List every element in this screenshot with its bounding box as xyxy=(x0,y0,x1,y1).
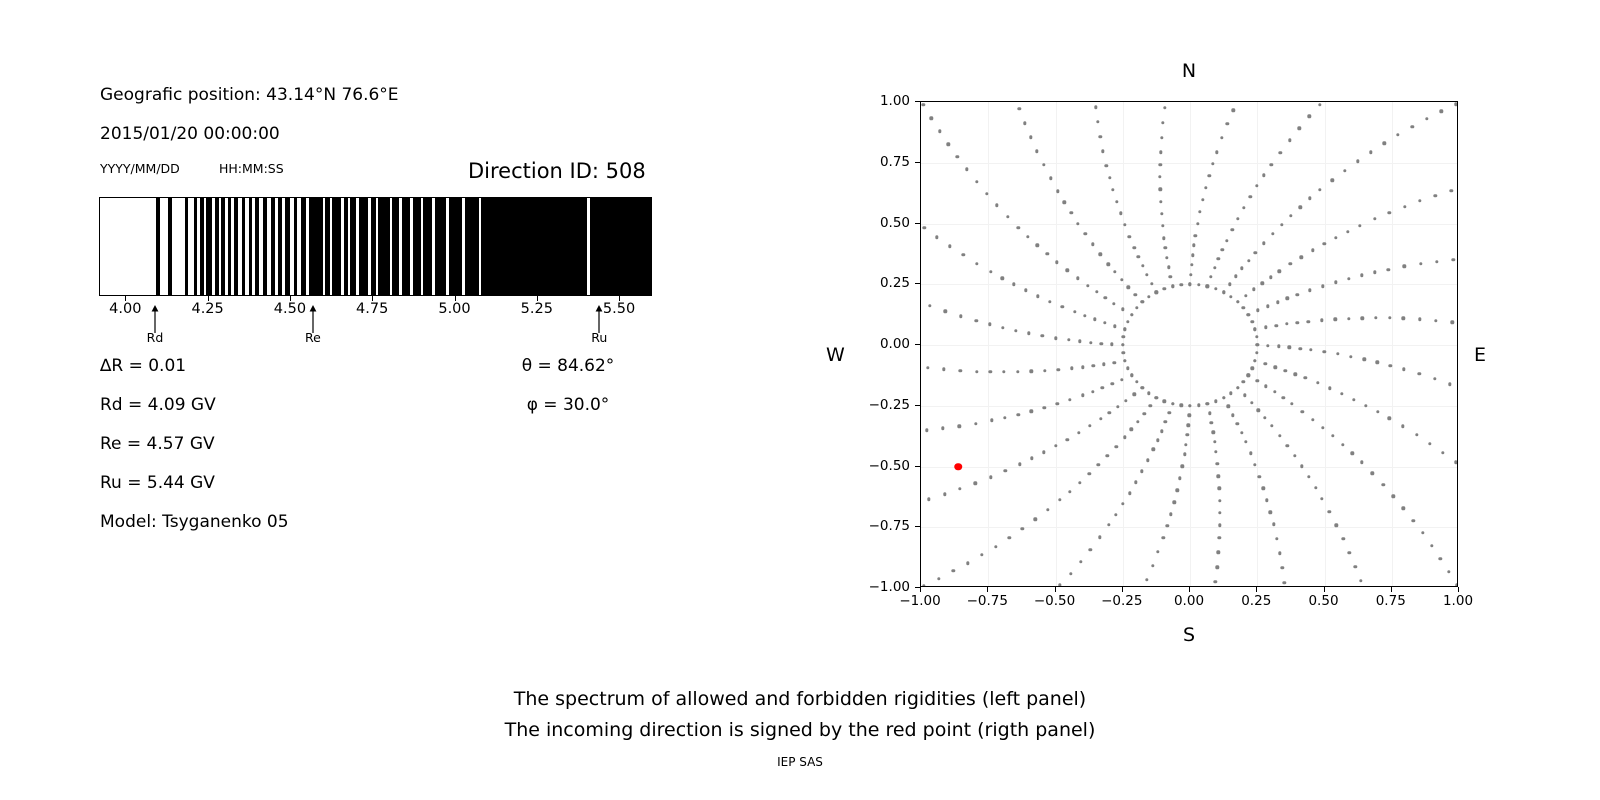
compass-south-label: S xyxy=(1183,624,1195,646)
direction-dot xyxy=(935,235,938,238)
direction-dot xyxy=(1068,490,1071,493)
marker-label-ru: Ru xyxy=(591,330,607,345)
direction-dot xyxy=(1430,544,1433,547)
direction-dot xyxy=(1108,411,1111,414)
direction-dot xyxy=(1383,142,1386,145)
direction-dot xyxy=(1007,536,1010,539)
direction-dot xyxy=(1265,499,1268,502)
direction-dot xyxy=(1249,452,1252,455)
direction-dot xyxy=(1124,399,1127,402)
direction-dot xyxy=(1352,398,1355,401)
direction-dot xyxy=(1318,103,1321,106)
direction-dot xyxy=(1289,262,1292,265)
direction-dot xyxy=(1439,557,1442,560)
direction-dot xyxy=(1036,295,1039,298)
direction-dot xyxy=(1133,246,1136,249)
direction-dot xyxy=(1149,404,1152,407)
x-axis-tick-label: 1.00 xyxy=(1443,593,1473,609)
direction-dot xyxy=(1211,162,1214,165)
direction-dot xyxy=(926,366,929,369)
direction-dot xyxy=(1065,269,1068,272)
direction-dot xyxy=(1054,444,1057,447)
x-axis-tick-label: −0.25 xyxy=(1101,593,1142,609)
direction-dot xyxy=(1229,391,1232,394)
direction-dot xyxy=(925,429,928,432)
gridline-vertical xyxy=(1056,102,1057,586)
direction-dot xyxy=(1240,431,1243,434)
direction-dot xyxy=(1278,434,1281,437)
direction-dot xyxy=(1278,270,1281,273)
compass-west-label: W xyxy=(826,344,845,366)
direction-dot xyxy=(995,203,998,206)
forbidden-band xyxy=(590,198,652,295)
direction-dot xyxy=(1042,163,1045,166)
direction-dot xyxy=(1243,394,1246,397)
direction-dot xyxy=(1147,295,1150,298)
forbidden-band xyxy=(294,198,298,295)
axis-tick-label: 4.50 xyxy=(274,301,306,317)
direction-dot xyxy=(1392,495,1395,498)
axis-tick-label: 5.25 xyxy=(521,301,553,317)
direction-dot xyxy=(1030,370,1033,373)
direction-dot xyxy=(1048,300,1051,303)
direction-dot xyxy=(1216,462,1219,465)
direction-dot xyxy=(1043,406,1046,409)
direction-dot xyxy=(1270,424,1273,427)
direction-dot xyxy=(1311,418,1314,421)
direction-dot xyxy=(1107,263,1110,266)
forbidden-band xyxy=(301,198,306,295)
direction-dot xyxy=(974,422,977,425)
direction-dot xyxy=(1141,264,1144,267)
direction-dot xyxy=(1240,267,1243,270)
direction-dot xyxy=(1434,194,1437,197)
forbidden-band xyxy=(234,198,238,295)
direction-dot xyxy=(1026,235,1029,238)
axis-tick-label: 5.50 xyxy=(603,301,635,317)
direction-dot xyxy=(1454,461,1457,464)
gridline-horizontal xyxy=(921,345,1457,346)
direction-dot xyxy=(1277,345,1280,348)
direction-dot xyxy=(975,180,978,183)
direction-dot xyxy=(1425,117,1428,120)
direction-dot xyxy=(938,130,941,133)
direction-dot xyxy=(1271,232,1274,235)
direction-dot xyxy=(1217,474,1220,477)
figure-caption: The spectrum of allowed and forbidden ri… xyxy=(0,684,1600,746)
asymptotic-direction-panel: −1.00−0.75−0.50−0.250.000.250.500.751.00… xyxy=(820,40,1520,660)
forbidden-band xyxy=(285,198,291,295)
forbidden-band xyxy=(325,198,330,295)
gridline-horizontal xyxy=(921,467,1457,468)
direction-dot xyxy=(1308,197,1311,200)
direction-dot xyxy=(1214,399,1217,402)
direction-dot xyxy=(1171,285,1174,288)
direction-dot xyxy=(1201,198,1204,201)
direction-dot xyxy=(1288,346,1291,349)
direction-dot xyxy=(1373,217,1376,220)
direction-dot xyxy=(1161,121,1164,124)
direction-dot xyxy=(1183,453,1186,456)
direction-dot xyxy=(1218,499,1221,502)
direction-dot xyxy=(1418,318,1421,321)
direction-dot xyxy=(1128,492,1131,495)
direction-dot xyxy=(1091,390,1094,393)
direction-dot xyxy=(1272,522,1275,525)
direction-dot xyxy=(1387,268,1390,271)
direction-dot xyxy=(1186,433,1189,436)
direction-dot xyxy=(1347,317,1350,320)
direction-dot xyxy=(1229,295,1232,298)
direction-dot xyxy=(1411,519,1414,522)
forbidden-band xyxy=(378,198,389,295)
direction-dot xyxy=(1250,401,1253,404)
direction-dot xyxy=(1286,444,1289,447)
x-axis-tick xyxy=(987,587,988,592)
forbidden-band xyxy=(465,198,478,295)
direction-dot xyxy=(1017,226,1020,229)
direction-dot xyxy=(1333,318,1336,321)
direction-dot xyxy=(1001,277,1004,280)
direction-dot xyxy=(1331,434,1334,437)
direction-dot xyxy=(1210,421,1213,424)
direction-dot xyxy=(1133,393,1136,396)
direction-dot xyxy=(1204,186,1207,189)
direction-dot xyxy=(1141,386,1144,389)
direction-dot xyxy=(1293,454,1296,457)
direction-dot xyxy=(959,314,962,317)
direction-dot xyxy=(1340,392,1343,395)
direction-dot xyxy=(1266,304,1269,307)
direction-dot xyxy=(1065,438,1068,441)
forbidden-band xyxy=(249,198,253,295)
direction-dot xyxy=(1021,527,1024,530)
y-axis-tick xyxy=(915,526,920,527)
gridline-horizontal xyxy=(921,527,1457,528)
direction-dot xyxy=(1103,321,1106,324)
direction-dot xyxy=(1388,316,1391,319)
direction-dot xyxy=(1088,424,1091,427)
axis-tick-label: 4.00 xyxy=(109,301,141,317)
direction-dot xyxy=(1105,164,1108,167)
direction-dot xyxy=(1121,502,1124,505)
gridline-horizontal xyxy=(921,224,1457,225)
direction-dot xyxy=(1314,486,1317,489)
direction-dot xyxy=(1225,239,1228,242)
axis-tick xyxy=(455,296,456,301)
direction-dot xyxy=(958,424,961,427)
x-axis-tick xyxy=(1458,587,1459,592)
direction-dot xyxy=(1058,498,1061,501)
x-axis-tick xyxy=(1122,587,1123,592)
direction-dot xyxy=(1042,451,1045,454)
footer-credit: IEP SAS xyxy=(0,755,1600,769)
forbidden-band xyxy=(402,198,411,295)
direction-dot xyxy=(1308,289,1311,292)
direction-dot xyxy=(1078,340,1081,343)
direction-dot xyxy=(1214,287,1217,290)
direction-dot xyxy=(1249,195,1252,198)
direction-dot xyxy=(1217,551,1220,554)
direction-dot xyxy=(1108,176,1111,179)
direction-dot xyxy=(1121,343,1124,346)
direction-dot xyxy=(1402,507,1405,510)
direction-dot xyxy=(1374,316,1377,319)
direction-dot xyxy=(958,487,961,490)
direction-dot xyxy=(1160,429,1163,432)
direction-dot xyxy=(1448,383,1451,386)
direction-dot xyxy=(1122,335,1125,338)
direction-dot xyxy=(1369,150,1372,153)
forbidden-band xyxy=(359,198,368,295)
forbidden-band xyxy=(228,198,231,295)
forbidden-band xyxy=(242,198,246,295)
direction-dot xyxy=(1276,300,1279,303)
direction-dot xyxy=(1086,284,1089,287)
y-axis-tick xyxy=(915,101,920,102)
direction-dot xyxy=(1061,305,1064,308)
direction-dot xyxy=(1435,260,1438,263)
direction-dot xyxy=(1334,236,1337,239)
direction-dot xyxy=(1447,570,1450,573)
direction-dot xyxy=(1163,399,1166,402)
direction-dot xyxy=(1159,188,1162,191)
direction-dot xyxy=(1088,472,1091,475)
x-axis-tick-label: −0.75 xyxy=(967,593,1008,609)
direction-dot xyxy=(1298,127,1301,130)
direction-dot xyxy=(1296,293,1299,296)
direction-dot xyxy=(1121,308,1124,311)
y-axis-tick xyxy=(915,283,920,284)
forbidden-band xyxy=(435,198,446,295)
x-axis-tick-label: −0.50 xyxy=(1034,593,1075,609)
direction-dot xyxy=(1158,163,1161,166)
direction-dot xyxy=(1111,188,1114,191)
direction-dot xyxy=(1359,579,1362,582)
direction-dot xyxy=(1230,228,1233,231)
direction-dot xyxy=(1454,103,1457,106)
direction-dot xyxy=(1094,105,1097,108)
direction-dot xyxy=(1299,205,1302,208)
gridline-horizontal xyxy=(921,163,1457,164)
direction-dot xyxy=(1128,235,1131,238)
direction-dot xyxy=(1114,513,1117,516)
direction-dot xyxy=(1214,450,1217,453)
direction-dot xyxy=(1242,306,1245,309)
direction-dot xyxy=(1299,347,1302,350)
axis-tick xyxy=(125,296,126,301)
direction-dot xyxy=(1196,222,1199,225)
forbidden-band xyxy=(263,198,268,295)
forbidden-band xyxy=(200,198,204,295)
direction-dot xyxy=(1307,320,1310,323)
direction-dot xyxy=(1099,417,1102,420)
direction-dot xyxy=(1256,309,1259,312)
direction-dot xyxy=(1415,433,1418,436)
direction-dot xyxy=(1247,259,1250,262)
direction-dot xyxy=(1360,461,1363,464)
direction-dot xyxy=(922,584,925,587)
direction-dot xyxy=(1165,256,1168,259)
direction-dot xyxy=(1155,396,1158,399)
direction-dot xyxy=(1236,422,1239,425)
direction-dot xyxy=(1244,440,1247,443)
direction-dot xyxy=(1226,122,1229,125)
forbidden-band xyxy=(156,198,160,295)
direction-dot xyxy=(1242,206,1245,209)
forbidden-band xyxy=(221,198,225,295)
x-axis-tick xyxy=(1256,587,1257,592)
x-axis-tick xyxy=(920,587,921,592)
forbidden-band xyxy=(423,198,432,295)
direction-dot xyxy=(956,155,959,158)
direction-dot xyxy=(962,253,965,256)
direction-dot xyxy=(1255,379,1258,382)
direction-dot xyxy=(1401,425,1404,428)
direction-dot xyxy=(1350,452,1353,455)
direction-dot xyxy=(1081,366,1084,369)
direction-dot xyxy=(937,577,940,580)
direction-dot xyxy=(1253,328,1256,331)
direction-dot xyxy=(1068,398,1071,401)
direction-dot xyxy=(1253,359,1256,362)
direction-dot xyxy=(1030,410,1033,413)
direction-dot xyxy=(1286,297,1289,300)
direction-dot xyxy=(1016,413,1019,416)
direction-dot xyxy=(1159,151,1162,154)
direction-dot xyxy=(1190,263,1193,266)
compass-east-label: E xyxy=(1474,344,1486,366)
direction-dot xyxy=(1449,189,1452,192)
direction-dot xyxy=(1126,367,1129,370)
direction-dot xyxy=(1218,536,1221,539)
direction-dot xyxy=(1323,242,1326,245)
direction-dot xyxy=(1247,313,1250,316)
direction-dot xyxy=(1067,338,1070,341)
direction-dot xyxy=(1113,324,1116,327)
direction-dot xyxy=(1320,319,1323,322)
direction-dot xyxy=(1264,385,1267,388)
x-axis-tick xyxy=(1391,587,1392,592)
direction-dot xyxy=(1141,300,1144,303)
direction-dot xyxy=(1137,255,1140,258)
direction-dot xyxy=(1452,258,1455,261)
direction-dot xyxy=(1003,416,1006,419)
direction-dot xyxy=(1331,178,1334,181)
direction-dot xyxy=(1098,536,1101,539)
axis-tick xyxy=(290,296,291,301)
direction-dot xyxy=(1197,283,1200,286)
direction-dot xyxy=(1006,215,1009,218)
direction-dot xyxy=(1294,373,1297,376)
forbidden-band xyxy=(185,198,188,295)
axis-tick xyxy=(372,296,373,301)
x-axis-tick-label: −1.00 xyxy=(899,593,940,609)
direction-dot xyxy=(1036,244,1039,247)
direction-dot xyxy=(1134,293,1137,296)
direction-dot xyxy=(1318,188,1321,191)
y-axis-tick-label: 0.75 xyxy=(880,154,910,170)
direction-dot xyxy=(1046,508,1049,511)
direction-dot xyxy=(1207,174,1210,177)
direction-dot xyxy=(1160,136,1163,139)
direction-dot xyxy=(1419,262,1422,265)
direction-dot xyxy=(1130,428,1133,431)
caption-line-2: The incoming direction is signed by the … xyxy=(0,715,1600,746)
direction-dot xyxy=(1136,420,1139,423)
direction-dot xyxy=(1184,443,1187,446)
direction-dot xyxy=(1023,122,1026,125)
direction-dot xyxy=(1152,448,1155,451)
forbidden-band xyxy=(350,198,356,295)
time-format-hint: HH:MM:SS xyxy=(219,161,284,176)
forbidden-band xyxy=(278,198,281,295)
direction-dot xyxy=(1284,369,1287,372)
x-axis-tick xyxy=(1324,587,1325,592)
direction-dot xyxy=(1147,391,1150,394)
direction-dot xyxy=(1296,321,1299,324)
direction-dot xyxy=(1373,271,1376,274)
direction-dot xyxy=(1360,274,1363,277)
direction-dot xyxy=(1263,416,1266,419)
direction-dot xyxy=(1155,291,1158,294)
direction-dot xyxy=(975,319,978,322)
direction-dot xyxy=(1014,329,1017,332)
direction-dot xyxy=(1213,440,1216,443)
direction-dot xyxy=(1343,169,1346,172)
direction-dot xyxy=(1113,361,1116,364)
direction-dot xyxy=(1167,411,1170,414)
re-value: Re = 4.57 GV xyxy=(100,434,215,454)
direction-dot xyxy=(1376,361,1379,364)
direction-id-label: Direction ID: 508 xyxy=(468,159,646,183)
direction-scatter-plot xyxy=(920,101,1458,587)
direction-dot xyxy=(1151,564,1154,567)
direction-dot xyxy=(1146,459,1149,462)
y-axis-tick-label: 0.50 xyxy=(880,215,910,231)
direction-dot xyxy=(1316,381,1319,384)
direction-dot xyxy=(1263,362,1266,365)
direction-dot xyxy=(1093,318,1096,321)
direction-dot xyxy=(1058,583,1061,586)
direction-dot xyxy=(1073,310,1076,313)
direction-dot xyxy=(928,304,931,307)
direction-dot xyxy=(1234,275,1237,278)
direction-dot xyxy=(1030,457,1033,460)
direction-dot xyxy=(1145,273,1148,276)
direction-dot xyxy=(975,262,978,265)
direction-dot xyxy=(988,323,991,326)
direction-dot xyxy=(930,116,933,119)
direction-dot xyxy=(1301,410,1304,413)
direction-dot xyxy=(1130,313,1133,316)
direction-dot xyxy=(1126,320,1129,323)
direction-dot xyxy=(1167,265,1170,268)
direction-dot xyxy=(1077,431,1080,434)
direction-dot xyxy=(994,545,997,548)
direction-dot xyxy=(1063,201,1066,204)
direction-dot xyxy=(1376,410,1379,413)
direction-dot xyxy=(1269,275,1272,278)
direction-dot xyxy=(1242,380,1245,383)
direction-dot xyxy=(1159,200,1162,203)
direction-dot xyxy=(1164,420,1167,423)
direction-dot xyxy=(1123,223,1126,226)
direction-dot xyxy=(944,309,947,312)
direction-dot xyxy=(965,168,968,171)
direction-dot xyxy=(1433,377,1436,380)
direction-dot xyxy=(1441,451,1444,454)
